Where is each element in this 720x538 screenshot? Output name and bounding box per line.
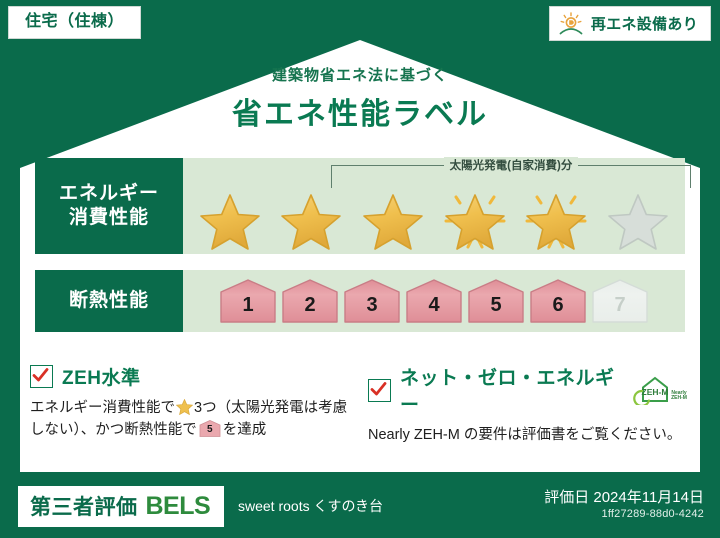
zeh-text-part3: を達成 (223, 422, 267, 438)
inline-insulation-badge: 5 (199, 420, 221, 437)
criteria-right-head: ネット・ゼロ・エネルギー ZEH-M Nearly ZEH-M (368, 363, 693, 417)
insulation-level-active: 2 (280, 277, 340, 325)
zeh-standard-title: ZEH水準 (62, 363, 141, 390)
insulation-level-number: 3 (366, 294, 377, 325)
insulation-level-inactive: 7 (590, 277, 650, 325)
criteria-net-zero-energy: ネット・ゼロ・エネルギー ZEH-M Nearly ZEH-M Nearly Z… (368, 363, 693, 446)
zeh-standard-description: エネルギー消費性能で3つ（太陽光発電は考慮しない）、かつ断熱性能で5を達成 (30, 397, 350, 442)
solar-caption: 太陽光発電(自家消費)分 (444, 157, 579, 173)
star-empty (601, 185, 675, 251)
renewable-equipment-badge: 再エネ設備あり (549, 6, 711, 41)
energy-performance-label: 住宅（住棟） 再エネ設備あり 建築物省エネ法に基づく 省エネ性能ラベル (0, 0, 720, 538)
evaluation-id: 1ff27289-88d0-4242 (602, 508, 705, 520)
insulation-level-active: 1 (218, 277, 278, 325)
net-zero-title: ネット・ゼロ・エネルギー (400, 363, 616, 417)
energy-header-line2: 消費性能 (69, 206, 149, 230)
solar-caption-wrap: 太陽光発電(自家消費)分 (331, 158, 691, 188)
inline-insulation-value: 5 (199, 422, 221, 438)
insulation-levels-panel: 1234567 (183, 270, 685, 332)
evaluation-date: 評価日 2024年11月14日 (544, 486, 704, 507)
zeh-star-count: 3 (194, 400, 202, 416)
svg-text:ZEH-M: ZEH-M (642, 387, 669, 397)
insulation-level-number: 1 (242, 294, 253, 325)
stars-list (183, 184, 685, 252)
energy-header-line1: エネルギー (59, 182, 159, 206)
project-name: sweet roots くすのき台 (238, 496, 383, 516)
bels-jp-label: 第三者評価 (30, 491, 138, 521)
inline-star-icon (176, 399, 193, 415)
star-filled (519, 185, 593, 251)
zeh-text-part1: エネルギー消費性能で (30, 400, 175, 416)
footer-bar: 第三者評価 BELS sweet roots くすのき台 評価日 2024年11… (0, 472, 720, 538)
energy-performance-row: エネルギー 消費性能 太陽光発電(自家消費)分 (35, 158, 685, 254)
insulation-level-number: 5 (490, 294, 501, 325)
insulation-level-active: 3 (342, 277, 402, 325)
insulation-level-number: 7 (614, 294, 625, 325)
insulation-level-active: 4 (404, 277, 464, 325)
insulation-levels-list: 1234567 (183, 270, 685, 332)
zeh-standard-checkbox[interactable] (30, 365, 53, 388)
renewable-badge-label: 再エネ設備あり (591, 13, 698, 34)
building-type-tag: 住宅（住棟） (8, 6, 141, 39)
bels-en-label: BELS (146, 492, 211, 521)
insulation-header-label: 断熱性能 (69, 289, 149, 313)
bels-certification-box: 第三者評価 BELS (18, 486, 224, 527)
star-filled (193, 185, 267, 251)
insulation-performance-row: 断熱性能 1234567 (35, 270, 685, 332)
insulation-level-active: 6 (528, 277, 588, 325)
net-zero-checkbox[interactable] (368, 379, 391, 402)
energy-performance-header: エネルギー 消費性能 (35, 158, 183, 254)
insulation-level-active: 5 (466, 277, 526, 325)
net-zero-description: Nearly ZEH-M の要件は評価書をご覧ください。 (368, 424, 693, 446)
title-block: 建築物省エネ法に基づく 省エネ性能ラベル (0, 64, 720, 133)
page-title: 省エネ性能ラベル (0, 89, 720, 133)
star-filled (356, 185, 430, 251)
star-filled (274, 185, 348, 251)
svg-text:ZEH-M: ZEH-M (671, 395, 687, 401)
star-filled (438, 185, 512, 251)
insulation-performance-header: 断熱性能 (35, 270, 183, 332)
criteria-left-head: ZEH水準 (30, 363, 350, 390)
title-subtitle: 建築物省エネ法に基づく (0, 64, 720, 85)
solar-sun-icon (558, 12, 584, 36)
insulation-level-number: 6 (552, 294, 563, 325)
insulation-level-number: 4 (428, 294, 439, 325)
energy-stars-panel: 太陽光発電(自家消費)分 (183, 158, 685, 254)
zeh-m-logo: ZEH-M Nearly ZEH-M (629, 375, 693, 405)
insulation-level-number: 2 (304, 294, 315, 325)
criteria-zeh-standard: ZEH水準 エネルギー消費性能で3つ（太陽光発電は考慮しない）、かつ断熱性能で5… (30, 363, 350, 442)
